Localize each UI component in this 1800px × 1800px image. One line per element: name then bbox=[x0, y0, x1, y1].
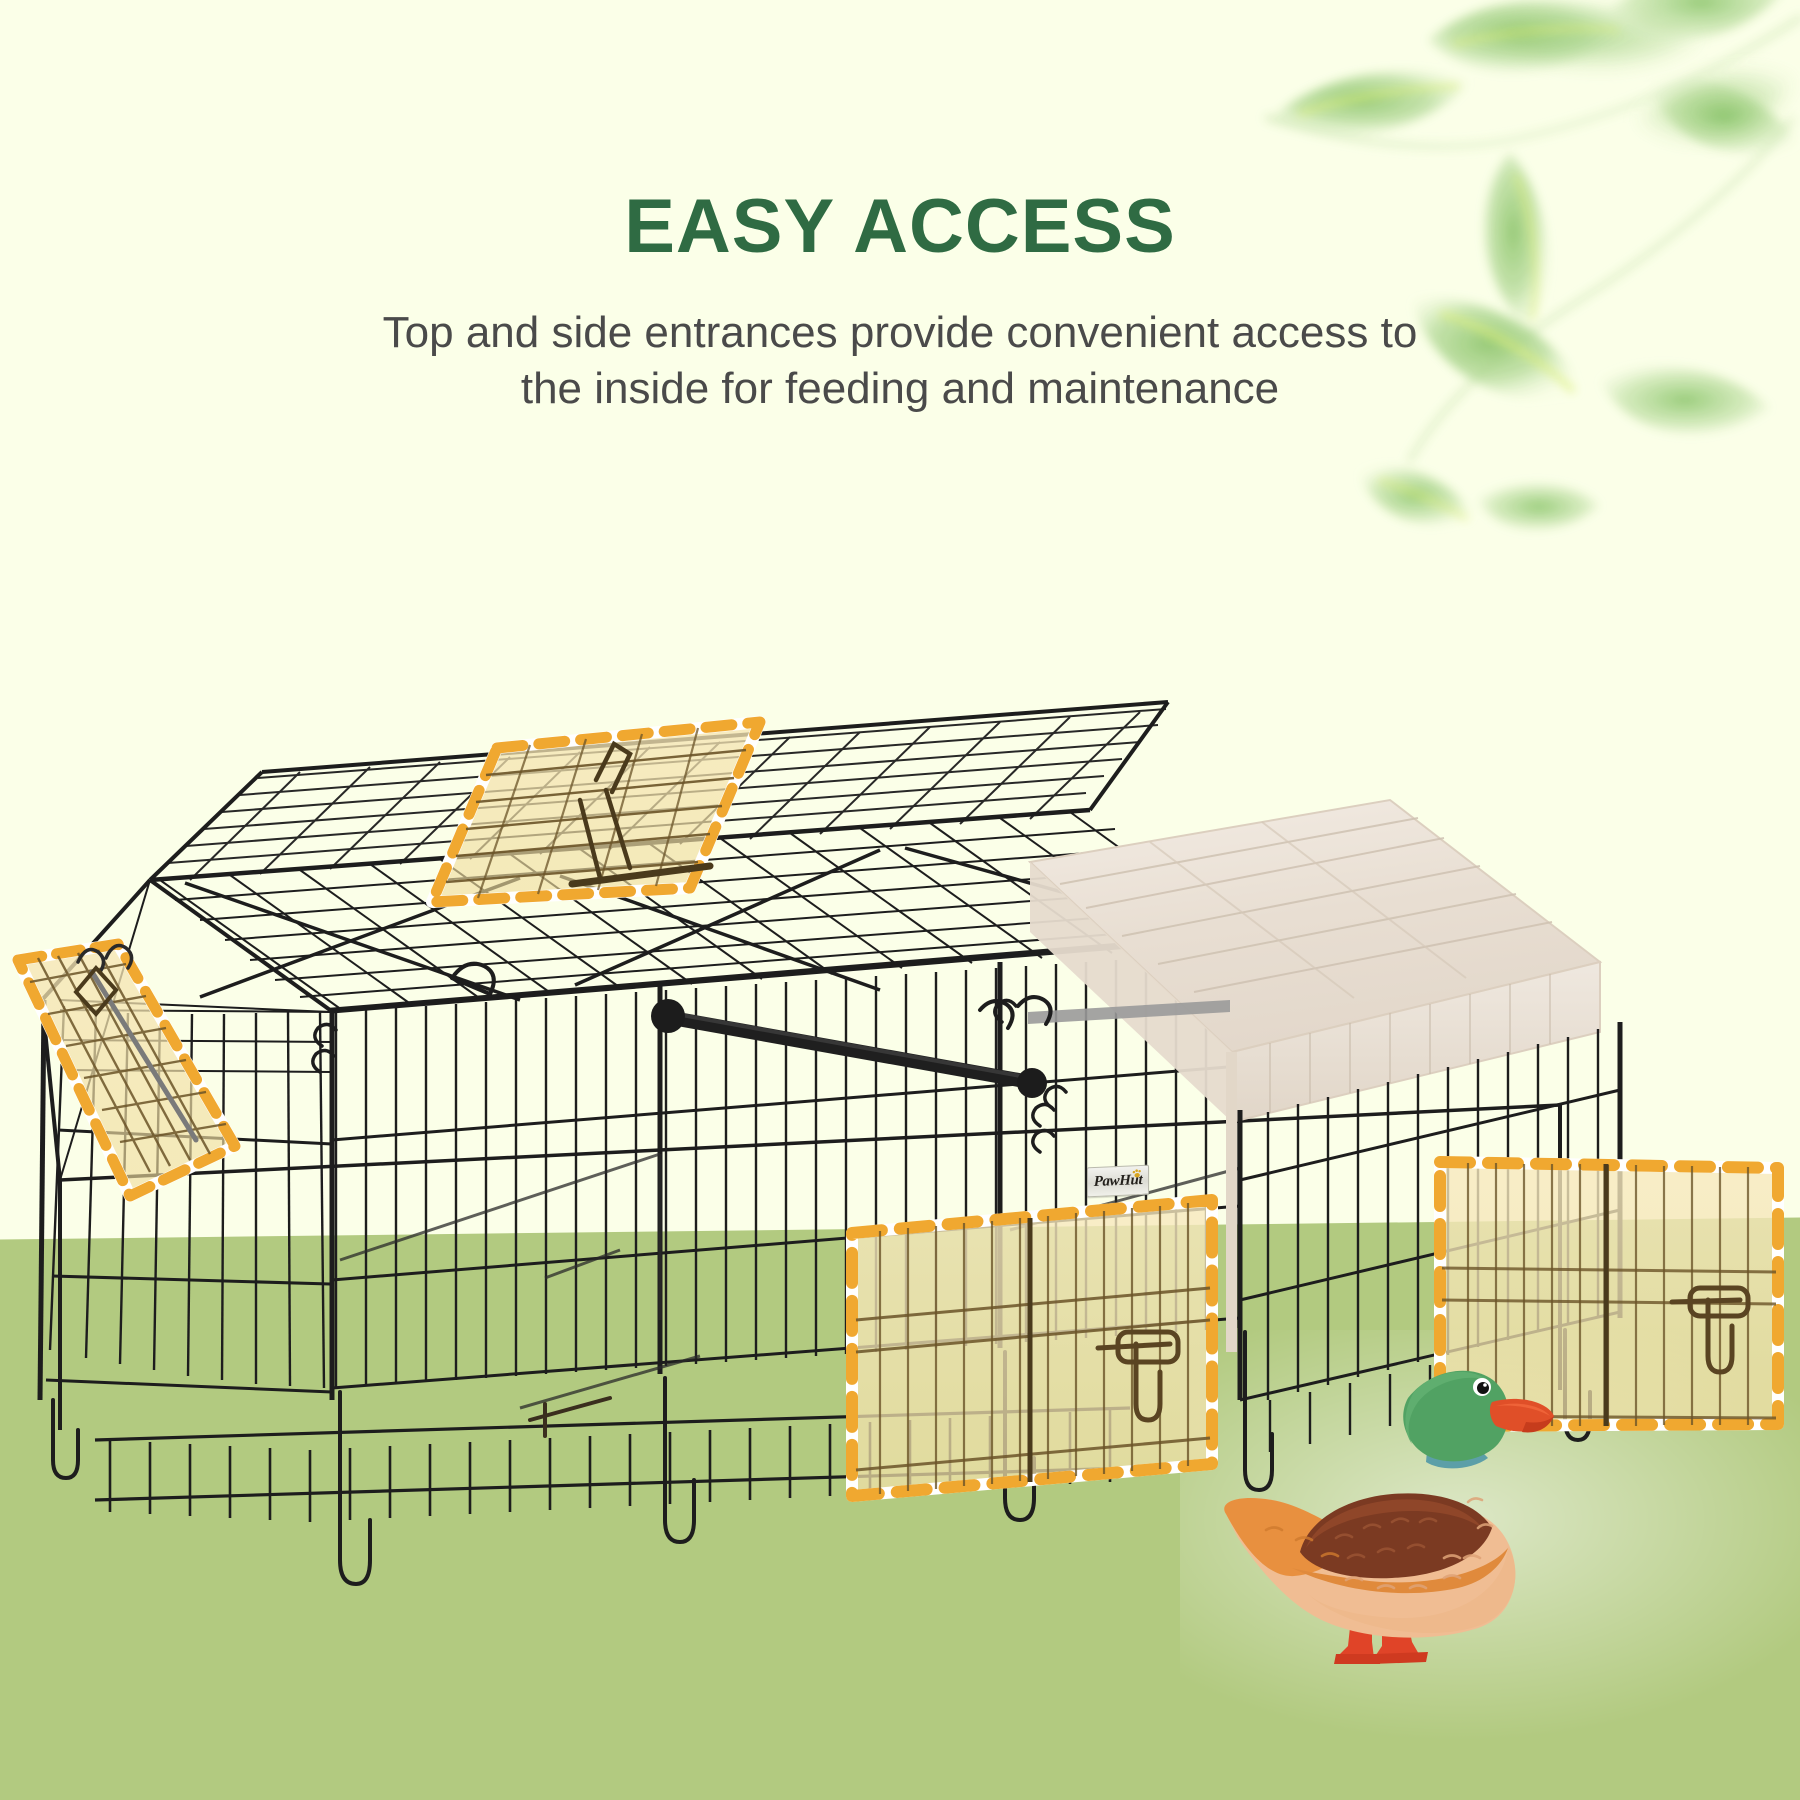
subtitle-line-2: the inside for feeding and maintenance bbox=[270, 361, 1530, 417]
brand-tag: PawHut bbox=[1087, 1165, 1149, 1198]
page-subtitle: Top and side entrances provide convenien… bbox=[270, 305, 1530, 418]
page-title: EASY ACCESS bbox=[0, 183, 1800, 270]
subtitle-line-1: Top and side entrances provide convenien… bbox=[270, 305, 1530, 361]
grass-ground bbox=[0, 1255, 1800, 1800]
marketing-image-canvas: EASY ACCESS Top and side entrances provi… bbox=[0, 0, 1800, 1800]
paw-print-icon bbox=[1132, 1169, 1142, 1178]
